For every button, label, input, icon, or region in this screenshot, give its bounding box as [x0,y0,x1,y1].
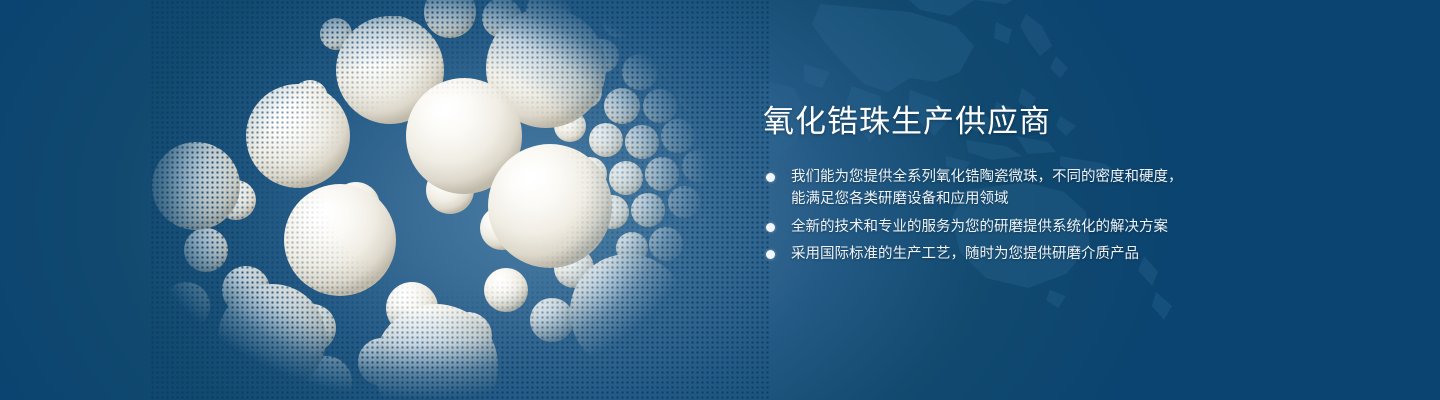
banner-headline: 氧化锆珠生产供应商 [763,104,1233,140]
bullet-item-1-line-1: 我们能为您提供全系列氧化锆陶瓷微珠，不同的密度和硬度， [791,166,1233,189]
bullet-item-2: 全新的技术和专业的服务为您的研磨提供系统化的解决方案 [763,216,1233,239]
bullet-item-1-line-2: 能满足您各类研磨设备和应用领域 [791,188,1233,211]
bullet-dot-icon [766,250,775,259]
hero-banner: 氧化锆珠生产供应商 我们能为您提供全系列氧化锆陶瓷微珠，不同的密度和硬度， 能满… [0,0,1440,400]
bullet-item-3: 采用国际标准的生产工艺，随时为您提供研磨介质产品 [763,243,1233,266]
bullet-item-3-line-1: 采用国际标准的生产工艺，随时为您提供研磨介质产品 [791,243,1233,266]
banner-copy: 氧化锆珠生产供应商 我们能为您提供全系列氧化锆陶瓷微珠，不同的密度和硬度， 能满… [763,104,1233,266]
bullet-dot-icon [766,173,775,182]
banner-bullet-list: 我们能为您提供全系列氧化锆陶瓷微珠，不同的密度和硬度， 能满足您各类研磨设备和应… [763,166,1233,266]
bullet-item-2-line-1: 全新的技术和专业的服务为您的研磨提供系统化的解决方案 [791,216,1233,239]
bullet-dot-icon [766,223,775,232]
bullet-item-1: 我们能为您提供全系列氧化锆陶瓷微珠，不同的密度和硬度， 能满足您各类研磨设备和应… [763,166,1233,211]
